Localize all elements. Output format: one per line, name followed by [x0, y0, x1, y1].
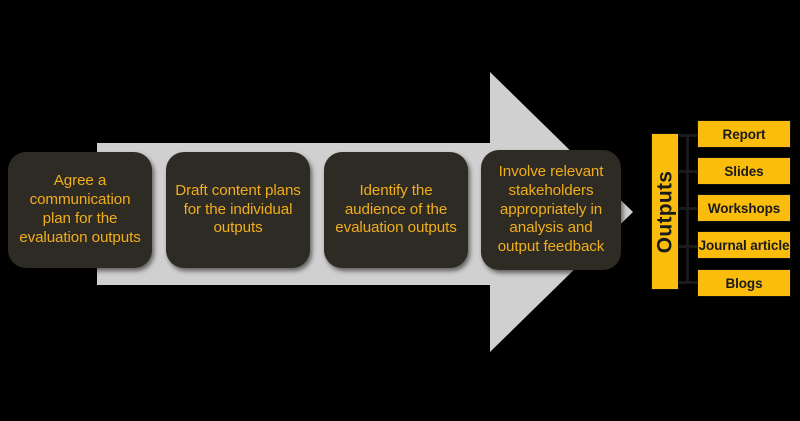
- step-box-4-label: Involve relevant stakeholders appropriat…: [489, 163, 613, 257]
- outputs-connector-stub-1: [679, 134, 699, 137]
- outputs-connector-stub-2: [679, 170, 699, 173]
- step-box-3-label: Identify the audience of the evaluation …: [332, 182, 460, 239]
- output-item-blogs-label: Blogs: [725, 276, 762, 291]
- step-box-1-label: Agree a communication plan for the evalu…: [16, 172, 144, 247]
- diagram-canvas: Agree a communication plan for the evalu…: [0, 0, 800, 421]
- output-item-report[interactable]: Report: [697, 120, 791, 148]
- step-box-2-label: Draft content plans for the individual o…: [174, 182, 302, 239]
- step-box-3[interactable]: Identify the audience of the evaluation …: [324, 152, 468, 268]
- outputs-connector-stub-4: [679, 245, 699, 248]
- output-item-slides[interactable]: Slides: [697, 157, 791, 185]
- output-item-workshops[interactable]: Workshops: [697, 194, 791, 222]
- step-box-2[interactable]: Draft content plans for the individual o…: [166, 152, 310, 268]
- outputs-group-label-bar[interactable]: Outputs: [651, 133, 679, 290]
- output-item-report-label: Report: [723, 127, 766, 142]
- output-item-slides-label: Slides: [724, 164, 763, 179]
- outputs-connector-stub-5: [679, 281, 699, 284]
- step-box-1[interactable]: Agree a communication plan for the evalu…: [8, 152, 152, 268]
- output-item-journal-article[interactable]: Journal article: [697, 231, 791, 259]
- outputs-connector-stub-3: [679, 207, 699, 210]
- output-item-journal-article-label: Journal article: [699, 238, 790, 253]
- output-item-workshops-label: Workshops: [708, 201, 780, 216]
- output-item-blogs[interactable]: Blogs: [697, 269, 791, 297]
- outputs-group-title: Outputs: [653, 170, 677, 253]
- step-box-4[interactable]: Involve relevant stakeholders appropriat…: [481, 150, 621, 270]
